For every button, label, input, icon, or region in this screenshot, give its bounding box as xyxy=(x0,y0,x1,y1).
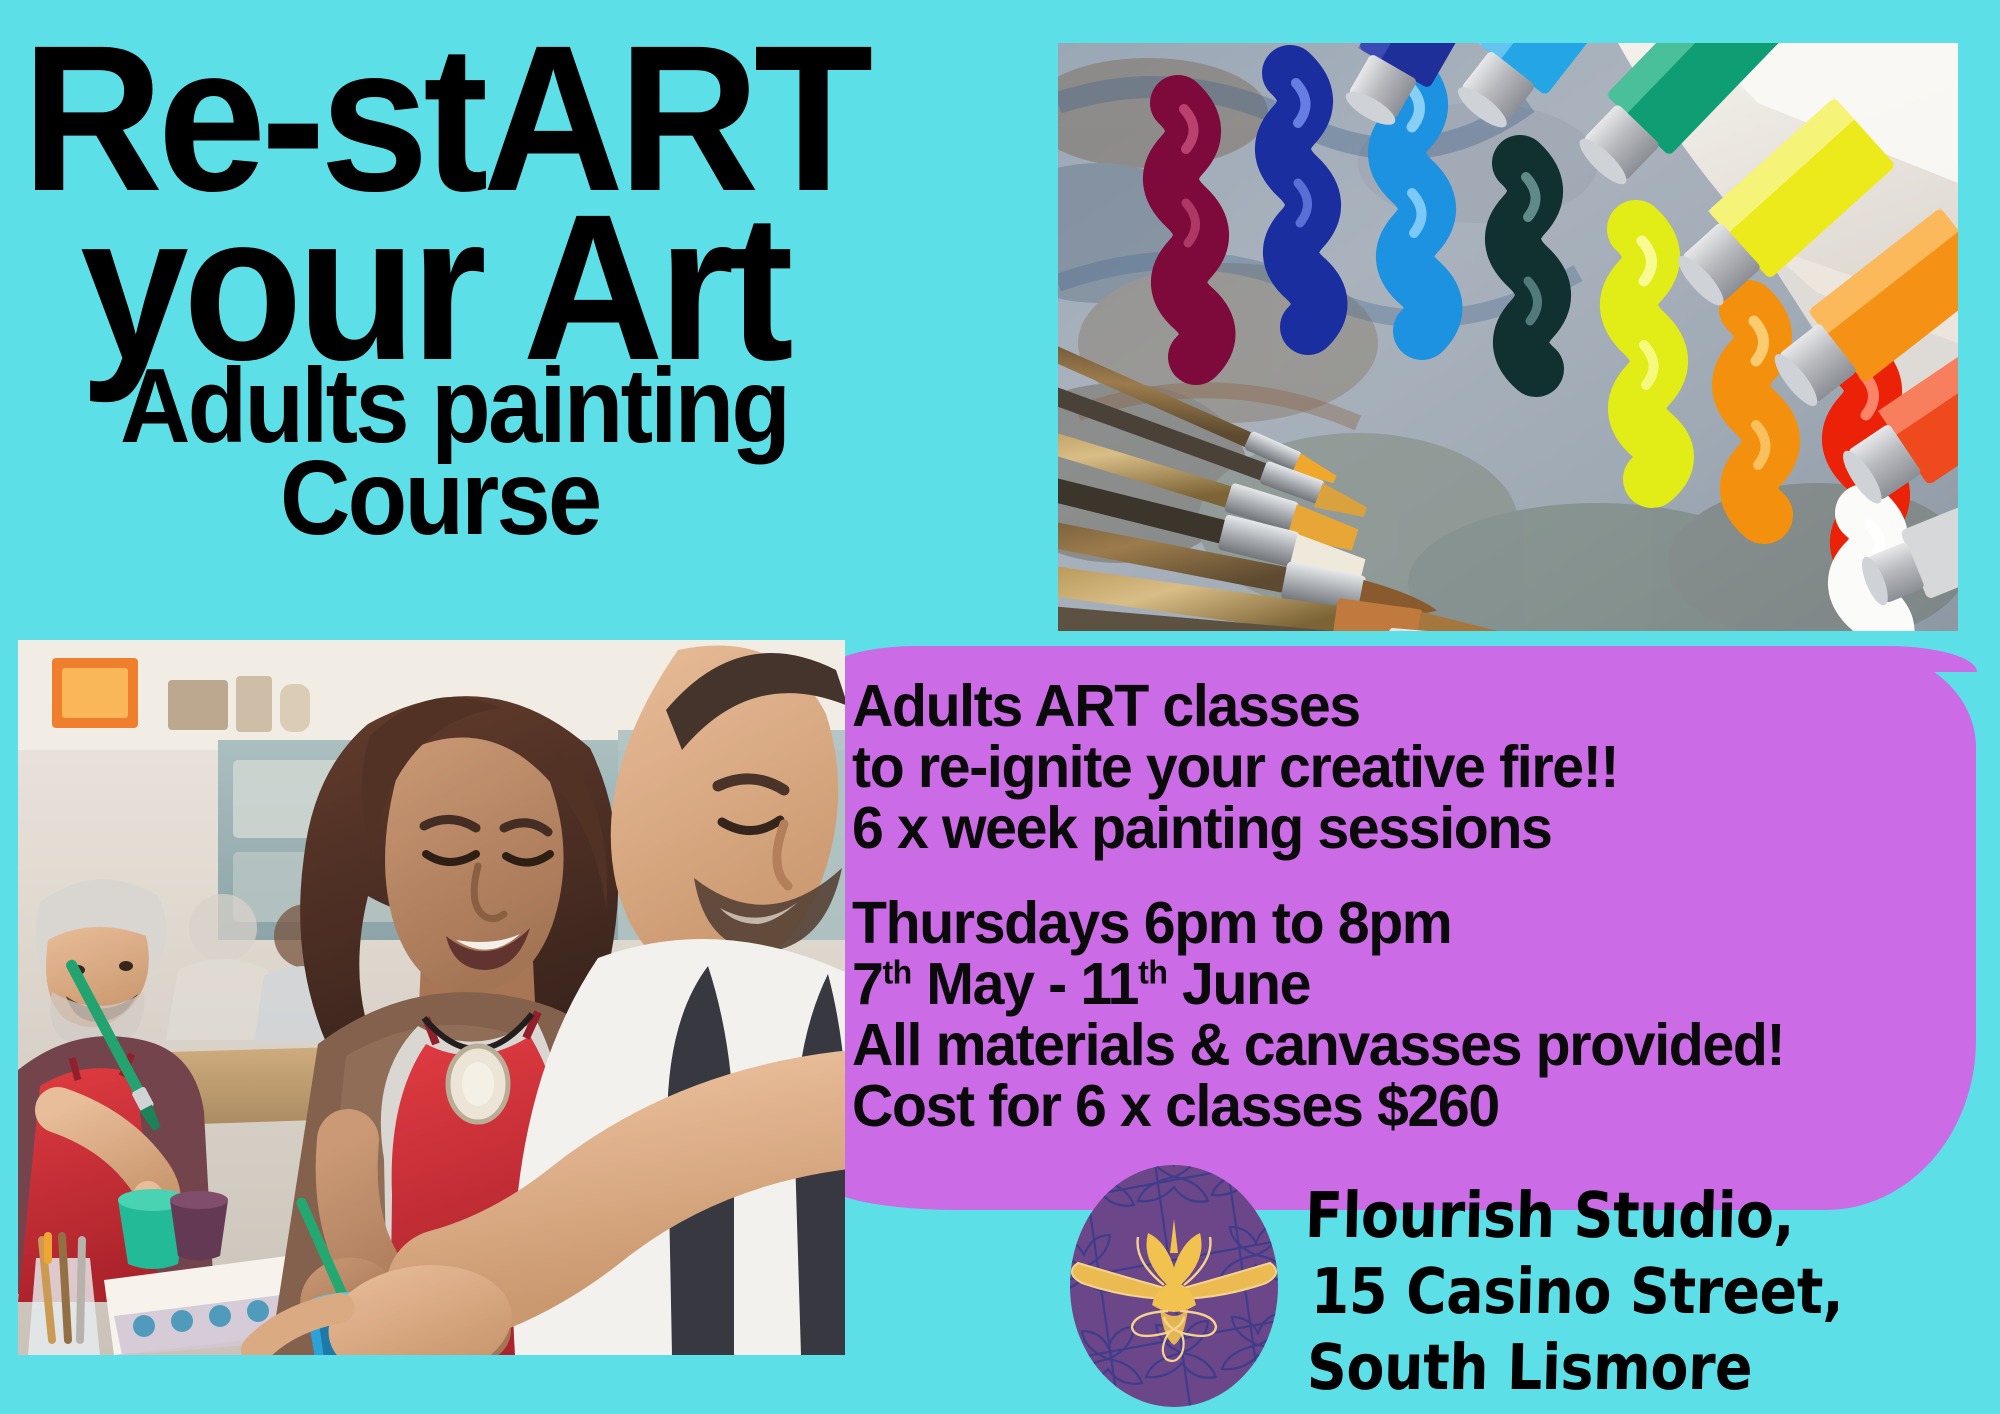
detail-line-4: Thursdays 6pm to 8pm xyxy=(852,893,1958,954)
date-start-ordinal: th xyxy=(882,955,911,992)
detail-line-2: to re-ignite your creative fire!! xyxy=(852,737,1958,798)
flourish-logo-mark xyxy=(1068,1163,1280,1409)
detail-date-range: 7th May - 11th June xyxy=(852,954,1958,1015)
date-start-month: May - xyxy=(912,951,1081,1017)
detail-line-3: 6 x week painting sessions xyxy=(852,798,1958,859)
paragraph-spacer xyxy=(852,859,1958,893)
date-start-day: 7 xyxy=(852,951,882,1017)
subheadline-line-2: Course xyxy=(280,450,972,548)
class-details-text: Adults ART classes to re-ignite your cre… xyxy=(852,676,1958,1137)
date-end-day: 11 xyxy=(1080,951,1138,1017)
adult-painting-class-photo xyxy=(18,640,845,1355)
venue-suburb: South Lismore xyxy=(1306,1330,1913,1406)
flourish-studio-logo xyxy=(1068,1163,1280,1409)
detail-line-6: All materials & canvasses provided! xyxy=(852,1015,1958,1076)
date-end-ordinal: th xyxy=(1138,955,1167,992)
poster-canvas: Re-stART your Art Adults painting Course xyxy=(0,0,2000,1414)
date-end-month: June xyxy=(1167,951,1310,1017)
paint-tubes-illustration xyxy=(1058,43,1958,631)
venue-street: 15 Casino Street, xyxy=(1310,1254,1914,1330)
painting-class-illustration xyxy=(18,640,845,1355)
headline-block: Re-stART your Art Adults painting Course xyxy=(22,28,1032,547)
venue-name: Flourish Studio, xyxy=(1304,1178,1913,1254)
detail-line-7: Cost for 6 x classes $260 xyxy=(852,1076,1958,1137)
detail-line-1: Adults ART classes xyxy=(852,676,1958,737)
venue-address: Flourish Studio, 15 Casino Street, South… xyxy=(1305,1178,1995,1407)
paint-tubes-and-brushes-photo xyxy=(1058,43,1958,631)
